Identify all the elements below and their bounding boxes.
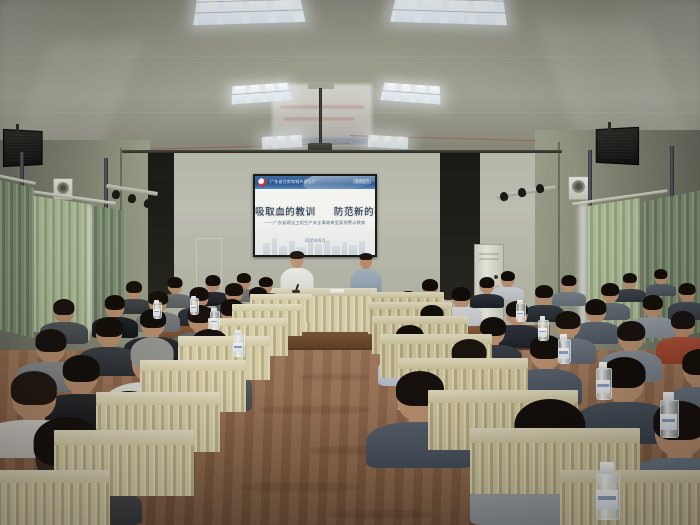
- bottle-cap: [599, 362, 608, 370]
- conference-room-photo: 广东省住房和城乡建设厅 安全生产 吸取血的教训 防范新的事故 ——广东省建设工程…: [0, 0, 700, 525]
- person-hair: [259, 277, 273, 287]
- person-hair: [105, 295, 125, 310]
- person-hair: [535, 285, 553, 298]
- bottle-cap: [600, 462, 614, 474]
- bottle-cap: [663, 392, 674, 401]
- slide-title-left: 吸取血的教训: [255, 207, 316, 218]
- water-bottle: [516, 300, 524, 322]
- bottle-label: [596, 380, 610, 393]
- person-hair: [556, 311, 581, 329]
- bottle-label: [233, 343, 243, 352]
- water-bottle: [153, 300, 160, 319]
- table-top: [372, 316, 468, 324]
- table-top: [54, 430, 194, 445]
- person-hair: [671, 311, 695, 329]
- person-hair: [561, 275, 576, 286]
- speaker-mount-right: [608, 122, 611, 134]
- bottle-label: [516, 311, 524, 318]
- bottle-label: [596, 490, 618, 510]
- person-hair: [479, 277, 494, 288]
- table-paper: [330, 289, 344, 293]
- water-bottle: [233, 330, 243, 357]
- person-hair: [95, 317, 123, 337]
- slide-skyline-graphic: [255, 233, 375, 255]
- bottle-label: [660, 414, 677, 430]
- bottle-label: [210, 319, 218, 326]
- ceiling-light-panel: [390, 0, 507, 25]
- table-skirt: [560, 483, 700, 525]
- bottle-cap: [540, 316, 546, 321]
- person-hair: [679, 283, 696, 295]
- table-top: [398, 358, 528, 369]
- table-top: [470, 428, 640, 443]
- slide-title: 吸取血的教训 防范新的事故: [255, 204, 375, 218]
- slide-content: 广东省住房和城乡建设厅 安全生产 吸取血的教训 防范新的事故 ——广东省建设工程…: [255, 176, 375, 255]
- table-top: [232, 304, 302, 311]
- slide-title-right: 防范新的事故: [334, 207, 375, 218]
- table-top: [140, 360, 246, 371]
- person-hair: [452, 287, 471, 301]
- projector-pole: [319, 88, 322, 144]
- person-hair: [237, 273, 251, 283]
- person-hair: [53, 299, 74, 315]
- table-top: [560, 470, 700, 483]
- table-skirt: [0, 483, 110, 525]
- bottle-cap: [154, 300, 158, 304]
- curtain-left-far: [0, 180, 34, 338]
- person-hair: [654, 269, 667, 279]
- ceiling-light-panel: [193, 0, 305, 25]
- table-top: [208, 318, 288, 326]
- audience-table: [0, 470, 110, 525]
- slide-subtitle: ——广东省建设工程生产安全事故典型案例警示教育: [255, 220, 375, 226]
- bottle-cap: [211, 308, 216, 312]
- water-bottle: [210, 308, 218, 330]
- person-hair: [617, 321, 645, 341]
- wall-speaker-right: [596, 127, 639, 166]
- person-hair: [11, 371, 57, 405]
- bottle-cap: [191, 296, 195, 300]
- bottle-label: [538, 328, 547, 337]
- water-bottle: [190, 296, 197, 315]
- water-bottle: [538, 316, 547, 341]
- person-hair: [682, 349, 700, 375]
- projection-screen: 广东省住房和城乡建设厅 安全生产 吸取血的教训 防范新的事故 ——广东省建设工程…: [253, 174, 377, 257]
- ceiling-light-panel: [380, 83, 440, 105]
- bottle-label: [190, 305, 197, 311]
- bottle-cap: [235, 330, 241, 335]
- water-bottle: [558, 334, 569, 364]
- wall-fan-right: [568, 176, 590, 200]
- person-hair: [35, 329, 66, 352]
- person-hair: [601, 283, 619, 296]
- slide-organization: 广东省住房和城乡建设厅: [270, 179, 316, 185]
- speaker-mount-left: [16, 124, 19, 136]
- person-hair: [623, 273, 637, 283]
- bottle-cap: [517, 300, 522, 304]
- emblem-icon: [258, 178, 267, 187]
- bottle-cap: [560, 334, 567, 340]
- ceiling-seam: [0, 56, 700, 57]
- wall-top-trim: [122, 150, 562, 153]
- person-hair: [126, 281, 142, 293]
- ceiling-light-panel: [368, 135, 409, 149]
- reflection-line: [280, 106, 364, 108]
- slide-badge: 安全生产: [353, 179, 371, 184]
- audience-table: [560, 470, 700, 525]
- table-top: [96, 392, 220, 405]
- bottle-label: [153, 309, 160, 315]
- person-hair: [643, 295, 663, 310]
- bottle-label: [558, 348, 569, 358]
- slide-header-band: 广东省住房和城乡建设厅 安全生产: [255, 176, 375, 189]
- ceiling-light-panel: [262, 135, 303, 149]
- water-bottle: [660, 392, 677, 438]
- person-hair: [422, 279, 438, 291]
- table-top: [0, 470, 110, 483]
- water-bottle: [596, 462, 618, 520]
- water-bottle: [596, 362, 610, 400]
- person-hair: [167, 277, 182, 288]
- microphone-base: [292, 290, 300, 293]
